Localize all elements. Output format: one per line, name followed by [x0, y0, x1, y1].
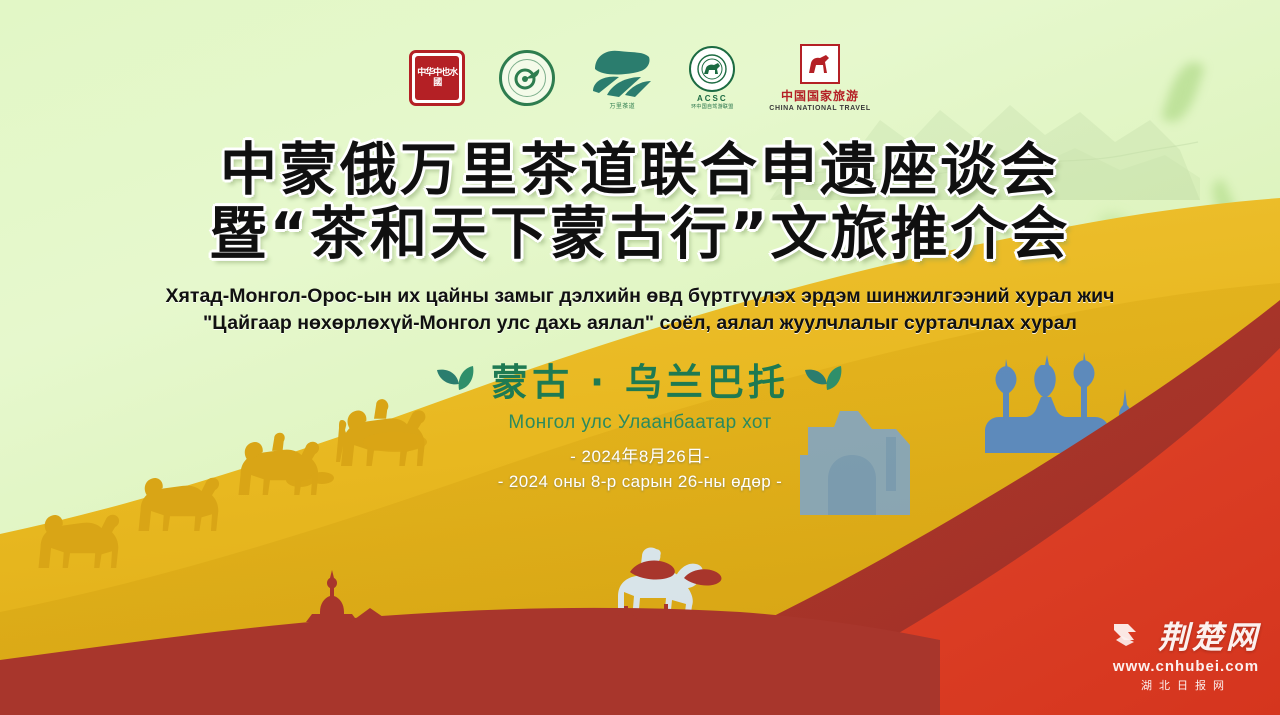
tea-leaf-icon — [435, 364, 477, 394]
tea-road-caption: 万里茶道 — [609, 101, 635, 110]
site-watermark: 荆楚网 www.cnhubei.com 湖北日报网 — [1112, 612, 1260, 693]
subtitle-line-2: "Цайгаар нөхөрлөхүй-Монгол улс дахь аяла… — [0, 310, 1280, 337]
seal-icon: 中华中也水國 — [409, 50, 465, 106]
date-block: - 2024年8月26日- - 2024 оны 8-р сарын 26-ны… — [0, 444, 1280, 494]
logo-china-heritage-seal: 中华中也水國 — [409, 50, 465, 106]
acsc-abbr: ACSC — [697, 94, 728, 103]
watermark-cn: 荆楚网 — [1158, 612, 1260, 657]
poster-canvas: 中华中也水國 万里茶道 — [0, 0, 1280, 715]
acsc-horse-icon — [695, 52, 729, 86]
cnhubei-logo-icon — [1112, 620, 1152, 650]
logo-wanli-tea-road-circle — [499, 50, 555, 106]
location-mn: Монгол улс Улаанбаатар хот — [0, 412, 1280, 434]
cnt-horse-seal-icon — [800, 44, 840, 84]
logo-acsc: ACSC 环中国自驾游联盟 — [689, 46, 735, 110]
acsc-caption: 环中国自驾游联盟 — [691, 103, 733, 110]
main-title-block: 中蒙俄万里茶道联合申遗座谈会 暨“茶和天下蒙古行”文旅推介会 — [0, 138, 1280, 266]
cnt-title-cn: 中国国家旅游 — [781, 87, 859, 104]
location-cn: 蒙古 · 乌兰巴托 — [491, 352, 789, 406]
tea-swirl-icon — [512, 63, 542, 93]
logo-tea-road-mountain: 万里茶道 — [589, 47, 655, 110]
watermark-url: www.cnhubei.com — [1112, 658, 1260, 675]
watermark-sub: 湖北日报网 — [1112, 677, 1260, 693]
cnt-title-en: CHINA NATIONAL TRAVEL — [769, 105, 870, 112]
running-horse-icon — [805, 49, 835, 79]
acsc-emblem-icon — [689, 46, 735, 92]
title-line-1: 中蒙俄万里茶道联合申遗座谈会 — [0, 138, 1280, 202]
date-cn: - 2024年8月26日- — [0, 444, 1280, 469]
logo-china-national-travel: 中国国家旅游 CHINA NATIONAL TRAVEL — [769, 44, 870, 112]
circular-emblem-icon — [499, 50, 555, 106]
tea-mountain-icon — [589, 47, 655, 99]
seal-text: 中华中也水國 — [415, 56, 459, 100]
sponsor-logo-strip: 中华中也水國 万里茶道 — [0, 44, 1280, 112]
date-mn: - 2024 оны 8-р сарын 26-ны өдөр - — [0, 469, 1280, 494]
location-block: 蒙古 · 乌兰巴托 Монгол улс Улаанбаатар хот — [0, 352, 1280, 434]
tea-leaf-icon — [803, 364, 845, 394]
subtitle-line-1: Хятад-Монгол-Орос-ын их цайны замыг дэлх… — [0, 283, 1280, 310]
subtitle-block: Хятад-Монгол-Орос-ын их цайны замыг дэлх… — [0, 283, 1280, 337]
title-line-2: 暨“茶和天下蒙古行”文旅推介会 — [0, 202, 1280, 266]
